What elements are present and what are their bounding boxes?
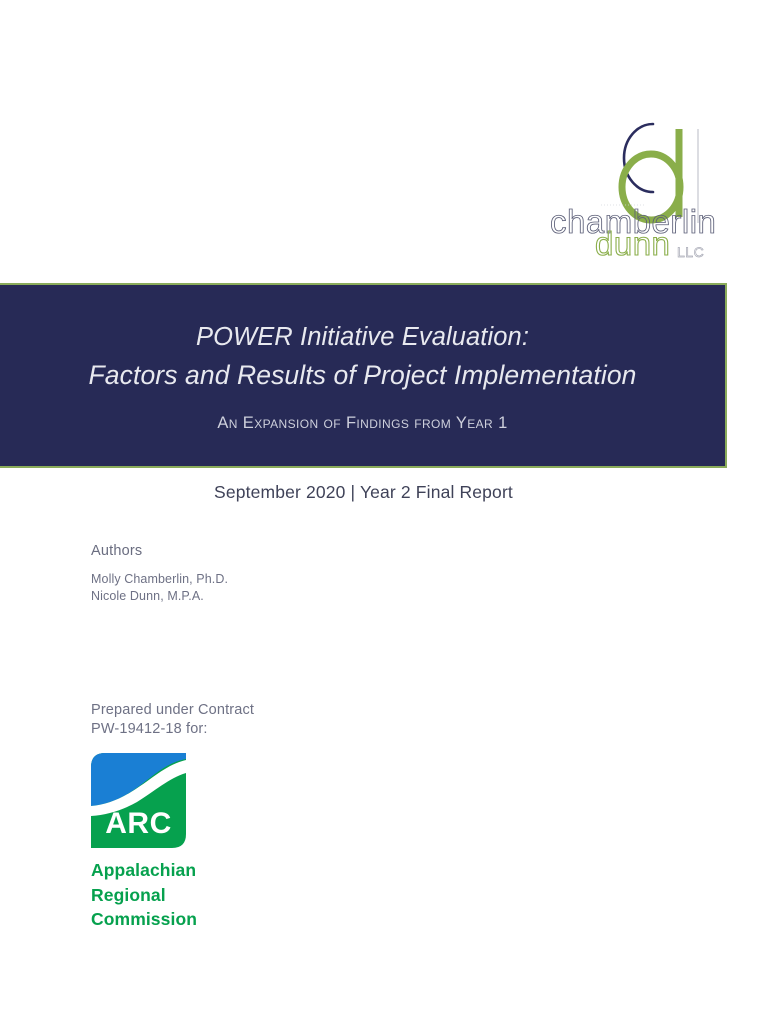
report-title-line-1: POWER Initiative Evaluation:: [196, 318, 529, 356]
chamberlin-dunn-logo: chamberlin dunn LLC: [545, 105, 745, 265]
firm-wordmark-dunn: dunn: [595, 225, 670, 262]
report-date-line: September 2020 | Year 2 Final Report: [0, 482, 727, 503]
contract-block: Prepared under Contract PW-19412-18 for:: [91, 701, 254, 739]
report-title-line-2: Factors and Results of Project Implement…: [89, 356, 637, 394]
arc-wordmark-line-2: Regional: [91, 883, 197, 908]
arc-wordmark-line-1: Appalachian: [91, 858, 197, 883]
title-banner: POWER Initiative Evaluation: Factors and…: [0, 283, 727, 468]
firm-wordmark-suffix: LLC: [677, 244, 704, 260]
appalachian-regional-commission-logo: ARC: [91, 753, 186, 848]
author-name: Nicole Dunn, M.P.A.: [91, 588, 228, 605]
arc-mark-text: ARC: [105, 807, 172, 840]
arc-wordmark: Appalachian Regional Commission: [91, 858, 197, 932]
authors-heading: Authors: [91, 543, 228, 559]
authors-block: Authors Molly Chamberlin, Ph.D. Nicole D…: [91, 543, 228, 605]
report-subtitle: An Expansion of Findings from Year 1: [217, 414, 507, 433]
contract-line-1: Prepared under Contract: [91, 701, 254, 720]
contract-line-2: PW-19412-18 for:: [91, 720, 254, 739]
arc-wordmark-line-3: Commission: [91, 907, 197, 932]
author-name: Molly Chamberlin, Ph.D.: [91, 571, 228, 588]
